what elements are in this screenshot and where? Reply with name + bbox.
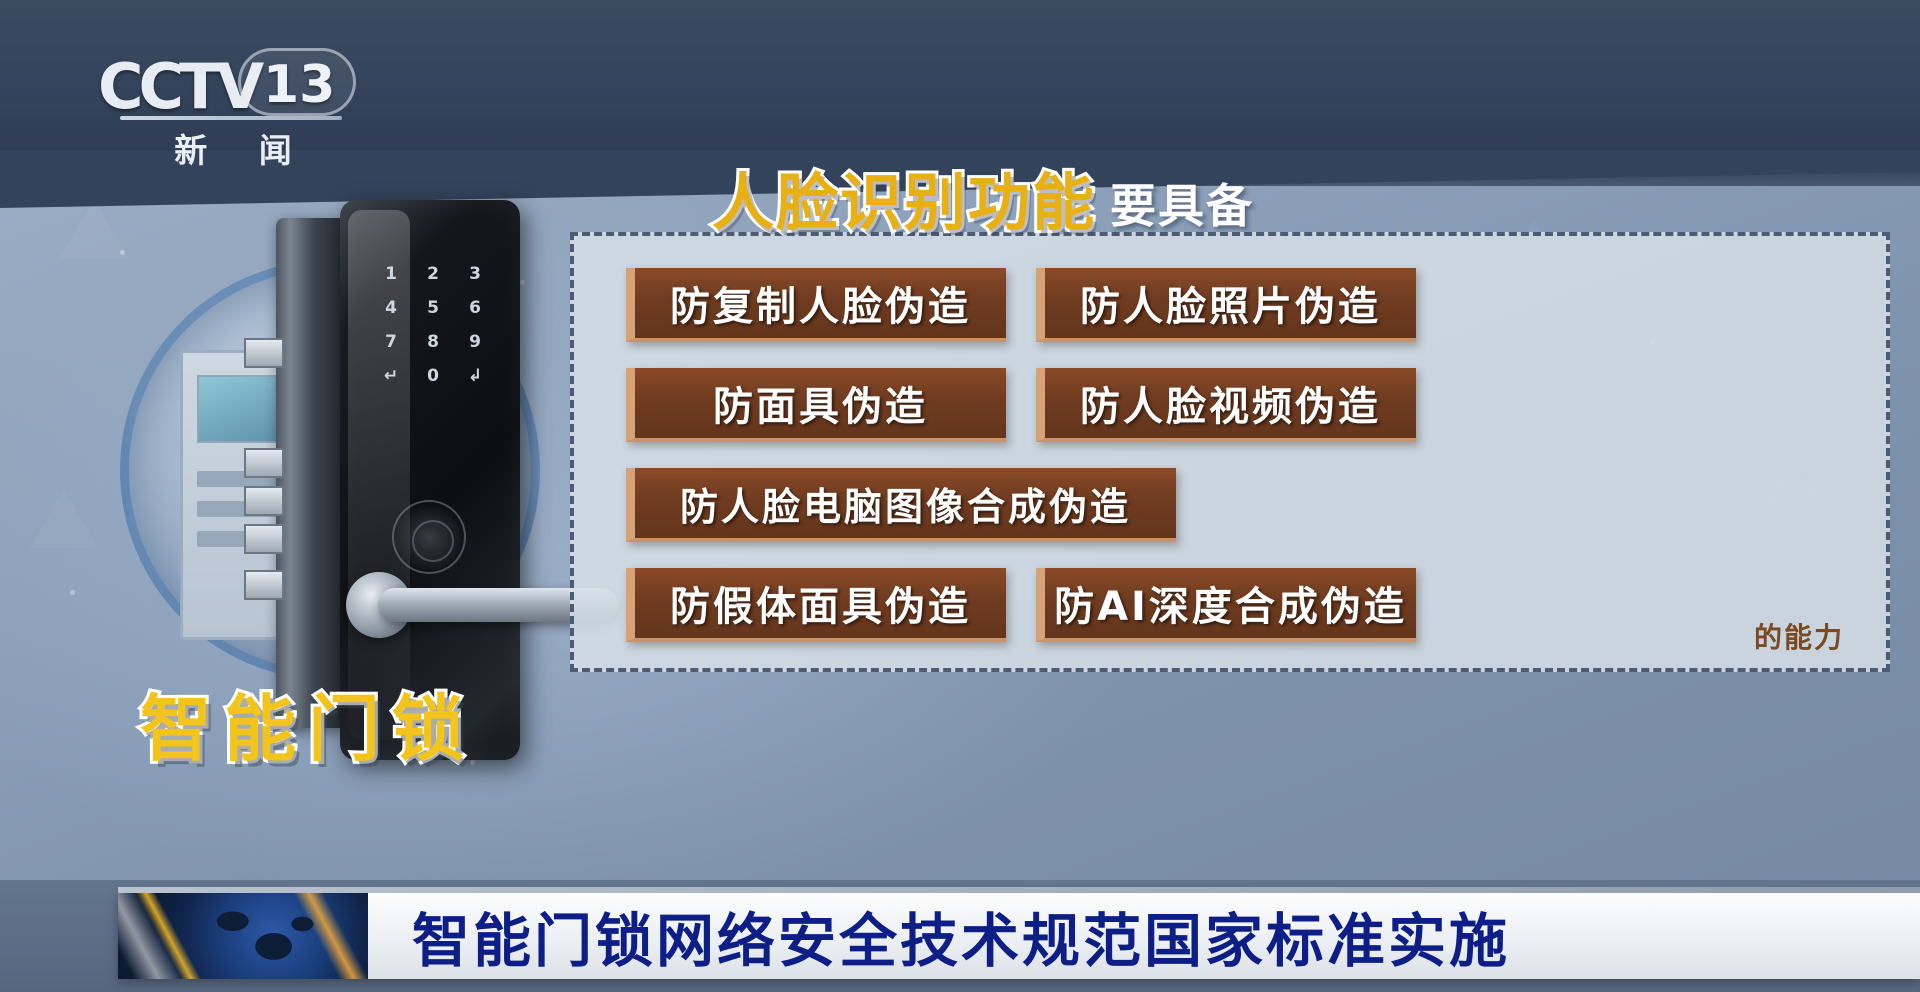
headline-white: 要具备 (1110, 170, 1254, 242)
lower-third-banner: 智能门锁网络安全技术规范国家标准实施 (118, 893, 1920, 979)
lock-bolt (244, 524, 284, 554)
lock-screen (197, 375, 281, 443)
channel-subtitle: 新 闻 (128, 124, 338, 172)
keypad-key-↲: ↲ (458, 366, 492, 386)
keypad-key-1: 1 (374, 264, 408, 284)
keypad-key-7: 7 (374, 332, 408, 352)
capability-chip: 防人脸电脑图像合成伪造 (626, 468, 1176, 542)
keypad-key-9: 9 (458, 332, 492, 352)
headline-gold: 人脸识别功能 (712, 152, 1096, 242)
keypad-key-6: 6 (458, 298, 492, 318)
keypad-key-8: 8 (416, 332, 450, 352)
capability-chip: 防人脸视频伪造 (1036, 368, 1416, 442)
logo-underline (120, 116, 342, 120)
channel-number: 13 (263, 55, 335, 115)
lock-bolt (244, 486, 284, 516)
capability-chip: 防AI深度合成伪造 (1036, 568, 1416, 642)
capability-rows: 防复制人脸伪造防人脸照片伪造防面具伪造防人脸视频伪造防人脸电脑图像合成伪造防假体… (574, 236, 1886, 668)
capability-panel: 防复制人脸伪造防人脸照片伪造防面具伪造防人脸视频伪造防人脸电脑图像合成伪造防假体… (570, 232, 1890, 672)
globe-icon (118, 893, 368, 979)
lower-third-headline: 智能门锁网络安全技术规范国家标准实施 (412, 894, 1510, 978)
keypad-key-0: 0 (416, 366, 450, 386)
lock-body (276, 218, 346, 728)
capability-chip: 防人脸照片伪造 (1036, 268, 1416, 342)
capability-chip-label: 防面具伪造 (713, 374, 928, 432)
capability-chip: 防复制人脸伪造 (626, 268, 1006, 342)
capability-chip-label: 防复制人脸伪造 (670, 274, 971, 332)
keypad-key-↵: ↵ (374, 366, 408, 386)
capability-chip: 防假体面具伪造 (626, 568, 1006, 642)
capability-chip-label: 防人脸电脑图像合成伪造 (680, 476, 1131, 531)
cctv-wordmark: CCTV (98, 50, 259, 123)
lock-bolt (244, 570, 284, 600)
keypad-keys: 123456789↵0↲ (374, 264, 492, 386)
fingerprint-icon (392, 500, 466, 574)
product-label: 智能门锁 (140, 670, 476, 775)
lock-bolt (244, 448, 284, 478)
capability-chip-label: 防人脸照片伪造 (1080, 274, 1381, 332)
keypad-key-4: 4 (374, 298, 408, 318)
keypad-key-3: 3 (458, 264, 492, 284)
broadcast-graphic: CCTV 13 新 闻 123456789↵0↲ 智 (0, 0, 1920, 992)
capability-chip: 防面具伪造 (626, 368, 1006, 442)
cctv13-logo: CCTV 13 新 闻 (98, 52, 398, 160)
capability-chip-label: 防假体面具伪造 (670, 574, 971, 632)
keypad-key-5: 5 (416, 298, 450, 318)
headline: 人脸识别功能 要具备 (712, 152, 1254, 242)
lock-bolt (244, 338, 284, 368)
capability-chip-label: 防人脸视频伪造 (1080, 374, 1381, 432)
panel-suffix: 的能力 (1754, 616, 1844, 656)
capability-chip-label: 防AI深度合成伪造 (1054, 574, 1407, 632)
keypad-key-2: 2 (416, 264, 450, 284)
